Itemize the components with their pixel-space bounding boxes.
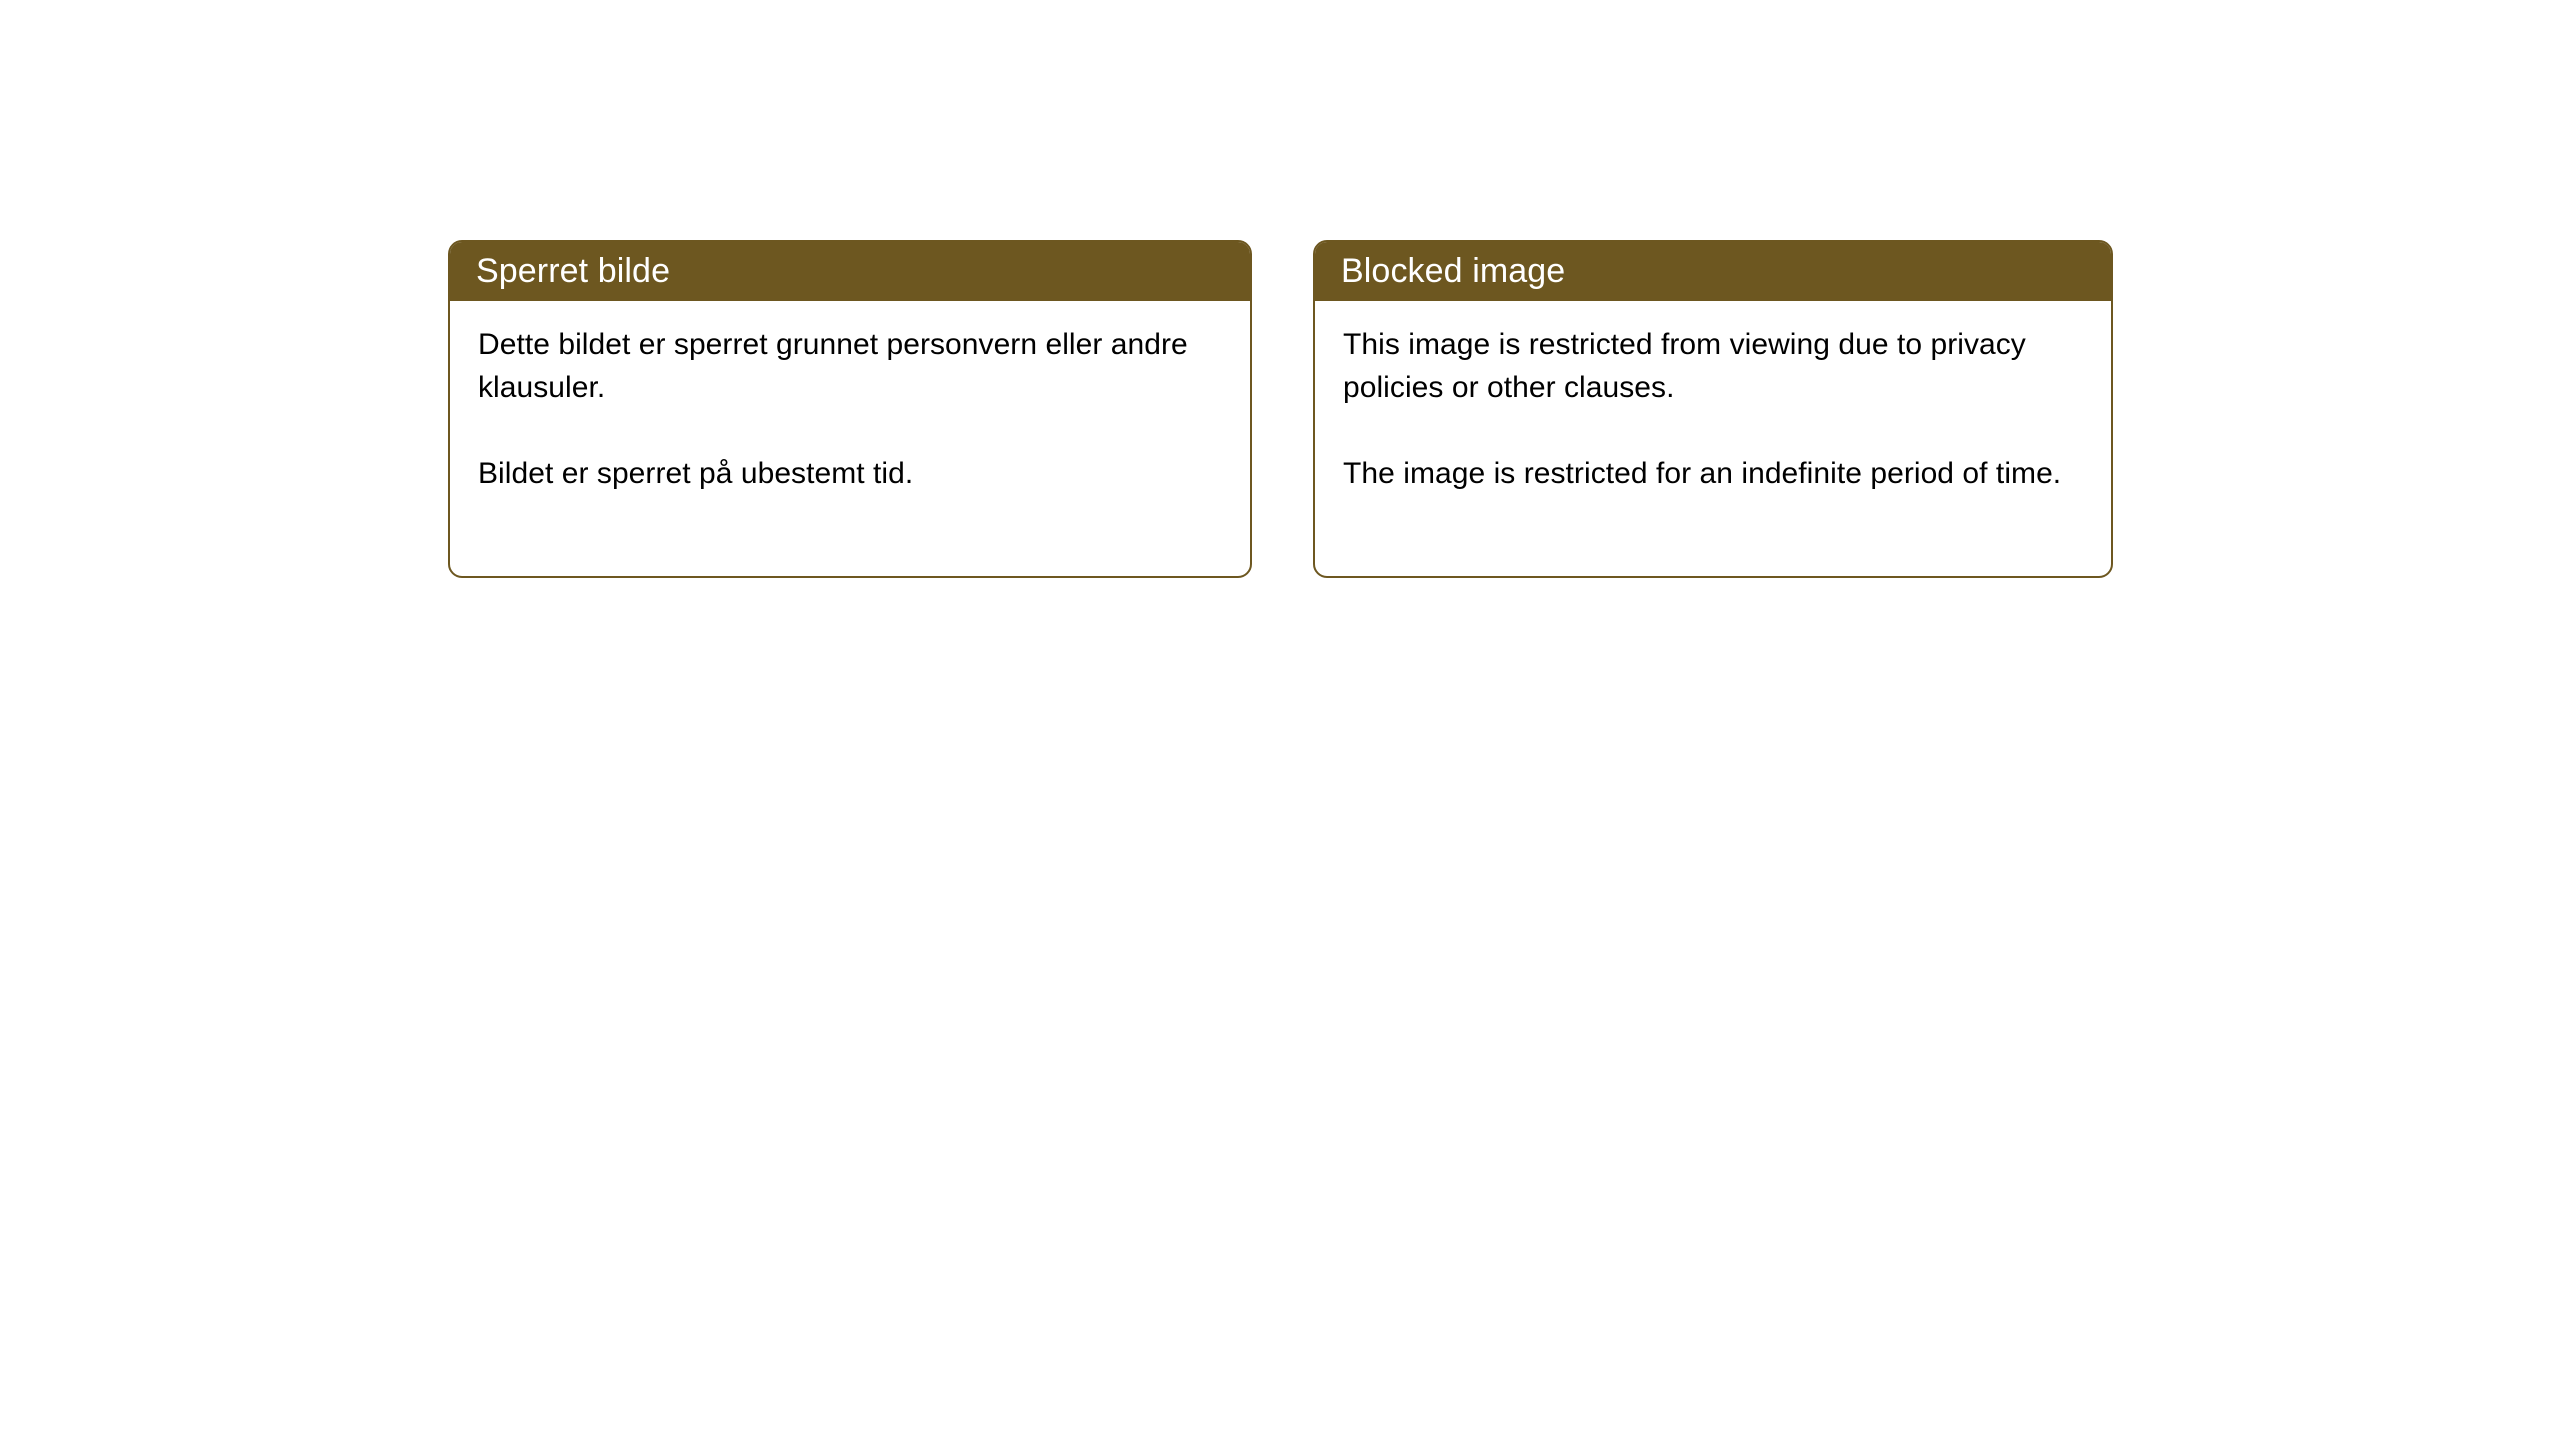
- paragraph-spacer-norwegian: [478, 409, 1224, 452]
- card-body-english: This image is restricted from viewing du…: [1315, 301, 2111, 495]
- card-paragraph-norwegian-1: Dette bildet er sperret grunnet personve…: [478, 323, 1224, 409]
- blocked-image-notice-card-norwegian: Sperret bilde Dette bildet er sperret gr…: [448, 240, 1252, 578]
- card-title-english: Blocked image: [1341, 251, 1565, 291]
- paragraph-spacer-english: [1343, 409, 2085, 452]
- blocked-image-notice-card-english: Blocked image This image is restricted f…: [1313, 240, 2113, 578]
- page-root: Sperret bilde Dette bildet er sperret gr…: [0, 0, 2560, 1440]
- card-paragraph-english-2: The image is restricted for an indefinit…: [1343, 452, 2085, 495]
- card-header-english: Blocked image: [1313, 240, 2113, 301]
- card-body-norwegian: Dette bildet er sperret grunnet personve…: [450, 301, 1250, 495]
- card-paragraph-english-1: This image is restricted from viewing du…: [1343, 323, 2085, 409]
- card-header-norwegian: Sperret bilde: [448, 240, 1252, 301]
- card-title-norwegian: Sperret bilde: [476, 251, 670, 291]
- card-paragraph-norwegian-2: Bildet er sperret på ubestemt tid.: [478, 452, 1224, 495]
